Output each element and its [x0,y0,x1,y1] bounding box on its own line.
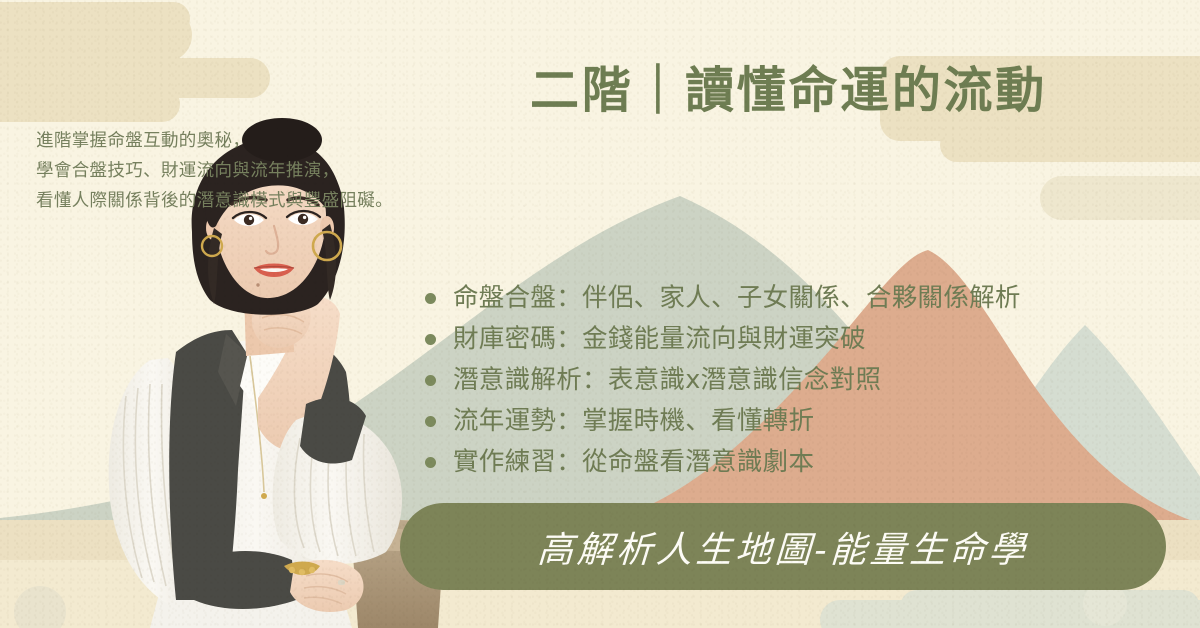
list-item-label: 命盤合盤：伴侶、家人、子女關係、合夥關係解析 [453,286,1021,312]
bullet-dot-icon [425,416,436,427]
list-item: 流年運勢：掌握時機、看懂轉折 [425,401,1021,442]
page-title: 二階｜讀懂命運的流動 [530,50,1130,122]
list-item: 潛意識解析：表意識x潛意識信念對照 [425,360,1021,401]
list-item-label: 流年運勢：掌握時機、看懂轉折 [453,409,814,435]
text-layer: 二階｜讀懂命運的流動 進階掌握命盤互動的奧秘， 學會合盤技巧、財運流向與流年推演… [0,0,1200,628]
bullet-dot-icon [425,334,436,345]
list-item-label: 實作練習：從命盤看潛意識劇本 [453,450,814,476]
subtitle-line-1: 進階掌握命盤互動的奧秘， [36,126,393,156]
feature-list: 命盤合盤：伴侶、家人、子女關係、合夥關係解析 財庫密碼：金錢能量流向與財運突破 … [425,278,1021,483]
subtitle-line-3: 看懂人際關係背後的潛意識模式與豐盛阻礙。 [36,186,393,216]
bullet-dot-icon [425,375,436,386]
poster-canvas: 高解析人生地圖-能量生命學 二階｜讀懂命運的流動 進階掌握命盤互動的奧秘， 學會… [0,0,1200,628]
subtitle-line-2: 學會合盤技巧、財運流向與流年推演， [36,156,393,186]
list-item: 命盤合盤：伴侶、家人、子女關係、合夥關係解析 [425,278,1021,319]
bullet-dot-icon [425,457,436,468]
subtitle-block: 進階掌握命盤互動的奧秘， 學會合盤技巧、財運流向與流年推演， 看懂人際關係背後的… [36,126,393,216]
list-item: 財庫密碼：金錢能量流向與財運突破 [425,319,1021,360]
list-item-label: 潛意識解析：表意識x潛意識信念對照 [453,368,881,394]
list-item: 實作練習：從命盤看潛意識劇本 [425,442,1021,483]
list-item-label: 財庫密碼：金錢能量流向與財運突破 [453,327,866,353]
bullet-dot-icon [425,293,436,304]
